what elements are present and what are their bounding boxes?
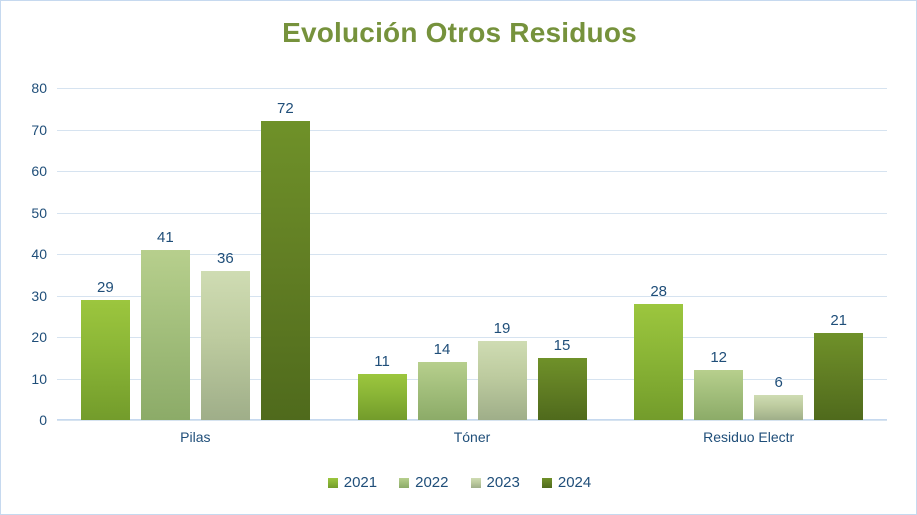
legend-label: 2022 <box>415 474 448 491</box>
bar-group: 29413672 <box>57 88 334 420</box>
bar-group: 2812621 <box>610 88 887 420</box>
bar-slot: 29 <box>81 88 130 420</box>
legend-swatch-icon <box>328 478 338 488</box>
legend-label: 2021 <box>344 474 377 491</box>
bar[interactable]: 14 <box>418 362 467 420</box>
bar-slot: 36 <box>201 88 250 420</box>
legend-label: 2023 <box>487 474 520 491</box>
y-axis-tick-label: 0 <box>39 412 47 428</box>
bar-slot: 19 <box>478 88 527 420</box>
chart-legend: 2021202220232024 <box>1 474 917 491</box>
y-axis-tick-label: 20 <box>31 329 47 345</box>
category-label: Tóner <box>334 429 611 445</box>
bar-slot: 41 <box>141 88 190 420</box>
bar-slot: 28 <box>634 88 683 420</box>
y-axis-tick-label: 30 <box>31 288 47 304</box>
bar-slot: 11 <box>358 88 407 420</box>
bar-slot: 6 <box>754 88 803 420</box>
plot-area: 01020304050607080 2941367211141915281262… <box>57 88 887 420</box>
legend-label: 2024 <box>558 474 591 491</box>
bar-slot: 21 <box>814 88 863 420</box>
bar-slot: 12 <box>694 88 743 420</box>
y-axis-tick-label: 10 <box>31 371 47 387</box>
bar[interactable]: 28 <box>634 304 683 420</box>
bar-value-label: 12 <box>710 349 727 366</box>
bar-value-label: 28 <box>650 283 667 300</box>
y-axis-tick-label: 50 <box>31 205 47 221</box>
bar-value-label: 11 <box>374 353 390 370</box>
bar[interactable]: 11 <box>358 374 407 420</box>
bar[interactable]: 15 <box>538 358 587 420</box>
bar-slot: 14 <box>418 88 467 420</box>
category-label: Pilas <box>57 429 334 445</box>
bar-slot: 72 <box>261 88 310 420</box>
bar[interactable]: 41 <box>141 250 190 420</box>
bar-group: 11141915 <box>334 88 611 420</box>
bar-value-label: 72 <box>277 100 294 117</box>
y-axis-tick-label: 80 <box>31 80 47 96</box>
bar-value-label: 15 <box>554 337 571 354</box>
legend-item-2024[interactable]: 2024 <box>542 474 591 491</box>
bar-groups: 29413672111419152812621 <box>57 88 887 420</box>
bar-value-label: 36 <box>217 250 234 267</box>
bar[interactable]: 12 <box>694 370 743 420</box>
category-label: Residuo Electr <box>610 429 887 445</box>
bar-value-label: 6 <box>775 374 783 391</box>
bar-value-label: 29 <box>97 279 114 296</box>
bar[interactable]: 19 <box>478 341 527 420</box>
y-axis-tick-label: 60 <box>31 163 47 179</box>
bar-value-label: 21 <box>830 312 847 329</box>
bar-value-label: 41 <box>157 229 174 246</box>
bar-value-label: 14 <box>434 341 451 358</box>
legend-swatch-icon <box>542 478 552 488</box>
legend-swatch-icon <box>471 478 481 488</box>
chart-title: Evolución Otros Residuos <box>1 17 917 49</box>
legend-item-2023[interactable]: 2023 <box>471 474 520 491</box>
category-labels: PilasTónerResiduo Electr <box>57 429 887 445</box>
bar[interactable]: 36 <box>201 271 250 420</box>
chart-container: Evolución Otros Residuos 010203040506070… <box>0 0 917 515</box>
y-axis-tick-label: 70 <box>31 122 47 138</box>
bar[interactable]: 21 <box>814 333 863 420</box>
legend-item-2021[interactable]: 2021 <box>328 474 377 491</box>
legend-item-2022[interactable]: 2022 <box>399 474 448 491</box>
gridline <box>57 420 887 421</box>
y-axis-tick-label: 40 <box>31 246 47 262</box>
bar[interactable]: 72 <box>261 121 310 420</box>
bar-slot: 15 <box>538 88 587 420</box>
bar[interactable]: 6 <box>754 395 803 420</box>
legend-swatch-icon <box>399 478 409 488</box>
bar-value-label: 19 <box>494 320 511 337</box>
bar[interactable]: 29 <box>81 300 130 420</box>
